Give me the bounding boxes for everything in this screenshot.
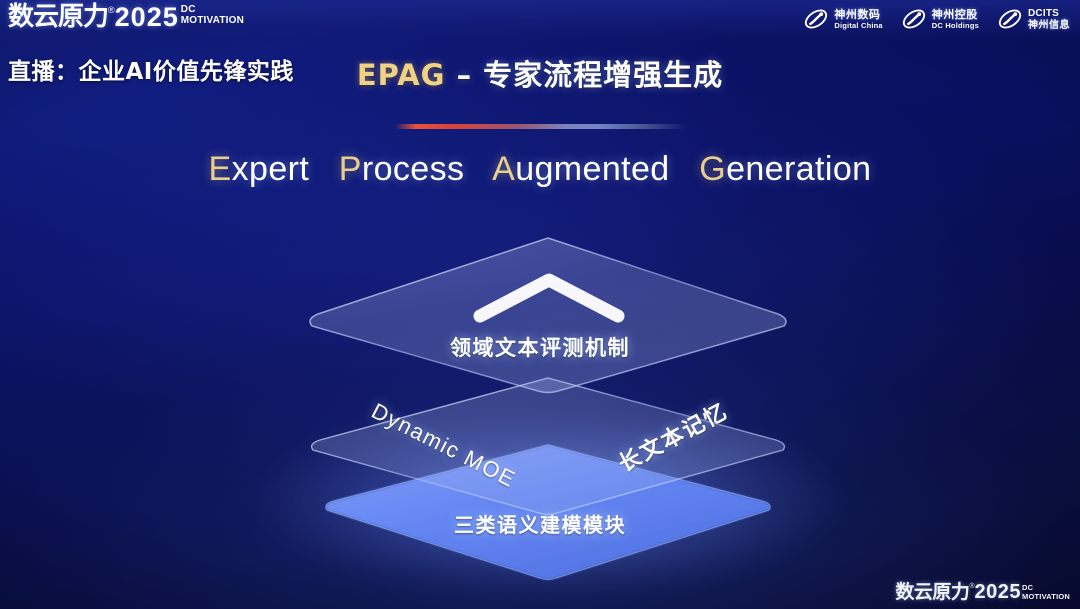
- expansion-rest: ugmented: [515, 150, 669, 188]
- expansion-word-expert: Expert: [209, 150, 310, 188]
- watermark-motivation-label: MOTIVATION: [1022, 593, 1070, 601]
- expansion-space: [319, 150, 329, 188]
- partner-logo-text: 神州数码 Digital China: [834, 9, 882, 30]
- brand-dc-label: DC: [181, 5, 244, 15]
- expansion-rest: xpert: [232, 150, 310, 188]
- expansion-space: [679, 150, 689, 188]
- swirl-logo-icon: [803, 6, 829, 32]
- layer-label-top: 领域文本评测机制: [0, 332, 1080, 362]
- gradient-divider: [395, 124, 687, 129]
- partner-logo-dc-holdings[interactable]: 神州控股 DC Holdings: [901, 6, 979, 32]
- partner-name-en: DC Holdings: [932, 22, 979, 30]
- expansion-word-augmented: Augmented: [492, 150, 670, 188]
- footer-watermark: 数云原力 ® 2025 DC MOTIVATION: [895, 582, 1070, 603]
- brand-name-cn: 数云原力: [8, 3, 108, 31]
- partner-name-en: DCITS: [1028, 9, 1070, 19]
- partner-logo-dcits[interactable]: DCITS 神州信息: [997, 6, 1070, 32]
- title-acronym: EPAG: [357, 58, 446, 92]
- watermark-name-cn: 数云原力: [895, 582, 969, 603]
- partner-logo-text: DCITS 神州信息: [1028, 7, 1070, 31]
- swirl-logo-icon: [901, 6, 927, 32]
- watermark-dc-label: DC: [1022, 584, 1070, 592]
- layer-label-bottom: 三类语义建模模块: [0, 509, 1080, 538]
- swirl-logo-icon: [997, 6, 1023, 32]
- title-chinese: 专家流程增强生成: [483, 58, 723, 92]
- acronym-expansion: Expert Process Augmented Generation: [0, 150, 1080, 189]
- expansion-cap: A: [492, 150, 515, 188]
- brand-wordmark: 数云原力 ® 2025 DC MOTIVATION: [8, 3, 244, 31]
- expansion-rest: eneration: [726, 150, 871, 188]
- live-stream-title: 直播：企业AI价值先锋实践: [8, 52, 294, 86]
- watermark-year: 2025: [975, 582, 1022, 603]
- partner-name-cn: 神州信息: [1028, 21, 1070, 31]
- brand-motivation-label: MOTIVATION: [181, 16, 244, 26]
- partner-logo-text: 神州控股 DC Holdings: [932, 9, 979, 30]
- expansion-word-process: Process: [339, 150, 465, 188]
- partner-name-cn: 神州数码: [834, 9, 882, 20]
- partner-logo-group: 神州数码 Digital China 神州控股 DC Holdings: [803, 6, 1070, 32]
- expansion-cap: P: [339, 150, 362, 188]
- chevron-up-icon: [470, 268, 628, 333]
- watermark-dc-motivation: DC MOTIVATION: [1022, 584, 1070, 600]
- slide-canvas: 数云原力 ® 2025 DC MOTIVATION 直播：企业AI价值先锋实践 …: [0, 0, 1080, 609]
- partner-name-en: Digital China: [834, 22, 882, 30]
- brand-year: 2025: [115, 3, 179, 31]
- expansion-rest: rocess: [362, 150, 465, 188]
- partner-logo-digital-china[interactable]: 神州数码 Digital China: [803, 6, 882, 32]
- expansion-word-generation: Generation: [699, 150, 871, 188]
- expansion-cap: G: [699, 150, 726, 188]
- title-dash: –: [445, 58, 483, 92]
- brand-dc-motivation: DC MOTIVATION: [181, 5, 244, 26]
- expansion-space: [474, 150, 484, 188]
- brand-registered-mark: ®: [108, 4, 115, 16]
- expansion-cap: E: [209, 150, 232, 188]
- partner-name-cn: 神州控股: [932, 9, 979, 20]
